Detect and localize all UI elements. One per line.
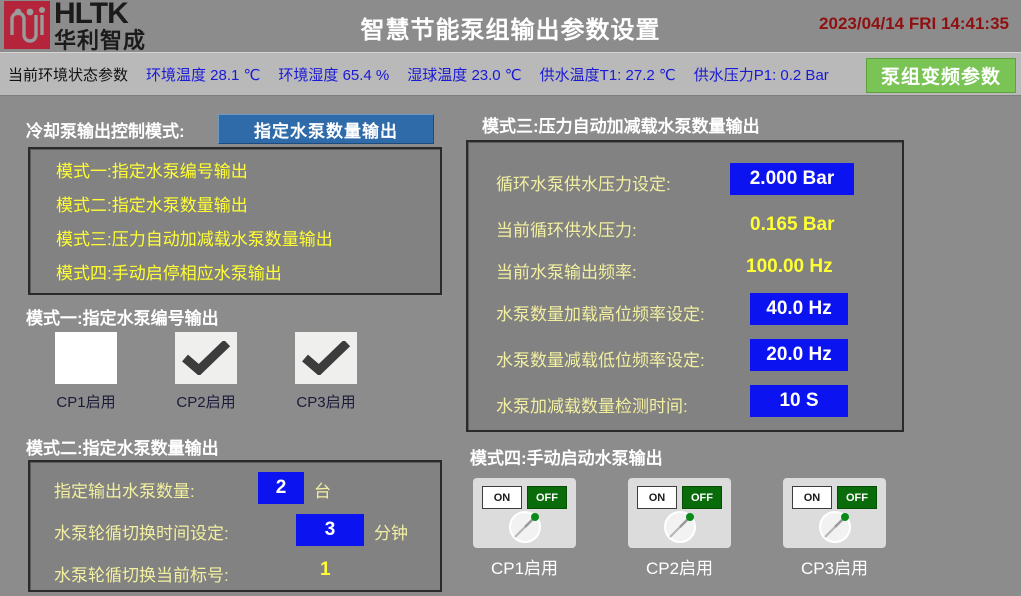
- mode2-panel: 指定输出水泵数量: 2 台 水泵轮循切换时间设定: 3 分钟 水泵轮循切换当前标…: [28, 460, 442, 592]
- status-supply-temperature-t1: 供水温度T1: 27.2 ℃: [540, 64, 676, 85]
- pump-cp1-switch[interactable]: ON OFF: [473, 478, 576, 548]
- status-bar-label: 当前环境状态参数: [8, 64, 128, 85]
- mode3-row-detect-time: 水泵加减载数量检测时间: 10 S: [468, 380, 902, 426]
- checkmark-icon: [181, 341, 231, 375]
- mode2-rotation-time-value[interactable]: 3: [296, 514, 364, 546]
- pump-cp2-checkbox[interactable]: [175, 332, 237, 384]
- mode1-pump-checkboxes: CP1启用 CP2启用 CP3启用: [52, 332, 360, 412]
- cooling-pump-mode-select[interactable]: 指定水泵数量输出: [218, 114, 434, 144]
- pump-cp1-checkbox-cell[interactable]: CP1启用: [52, 332, 120, 412]
- mode3-unload-low-freq-label: 水泵数量减载低位频率设定:: [496, 346, 705, 371]
- pump-cp3-switch-cell[interactable]: ON OFF CP3启用: [783, 478, 886, 579]
- mode1-heading: 模式一:指定水泵编号输出: [26, 304, 219, 329]
- mode2-row-current-index: 水泵轮循切换当前标号: 1: [30, 552, 440, 592]
- mode-option-3[interactable]: 模式三:压力自动加减载水泵数量输出: [56, 225, 333, 250]
- mode2-row-rotation-time: 水泵轮循切换时间设定: 3 分钟: [30, 510, 440, 550]
- pump-cp3-on-button[interactable]: ON: [792, 486, 832, 509]
- mode3-current-pressure-label: 当前循环供水压力:: [496, 216, 637, 241]
- mode2-pump-count-unit: 台: [314, 477, 331, 502]
- pump-cp3-checkbox-cell[interactable]: CP3启用: [292, 332, 360, 412]
- mode3-heading: 模式三:压力自动加减载水泵数量输出: [482, 112, 760, 137]
- datetime-display: 2023/04/14 FRI 14:41:35: [819, 14, 1009, 34]
- mode-option-2[interactable]: 模式二:指定水泵数量输出: [56, 191, 248, 216]
- mode3-current-frequency-label: 当前水泵输出频率:: [496, 258, 637, 283]
- mode2-heading: 模式二:指定水泵数量输出: [26, 434, 219, 459]
- pump-cp1-off-button[interactable]: OFF: [527, 486, 567, 509]
- status-ambient-temperature: 环境温度 28.1 ℃: [146, 64, 260, 85]
- pump-cp3-checkbox[interactable]: [295, 332, 357, 384]
- pump-cp3-off-button[interactable]: OFF: [837, 486, 877, 509]
- mode2-pump-count-value[interactable]: 2: [258, 472, 304, 504]
- mode-options-panel: 模式一:指定水泵编号输出 模式二:指定水泵数量输出 模式三:压力自动加减载水泵数…: [28, 147, 442, 295]
- mode4-heading: 模式四:手动启动水泵输出: [470, 444, 663, 469]
- mode3-row-unload-low-freq: 水泵数量减载低位频率设定: 20.0 Hz: [468, 334, 902, 380]
- pump-cp2-checkbox-cell[interactable]: CP2启用: [172, 332, 240, 412]
- mode2-rotation-time-label: 水泵轮循切换时间设定:: [54, 519, 229, 544]
- cooling-pump-mode-label: 冷却泵输出控制模式:: [26, 117, 185, 142]
- pump-cp2-switch-label: CP2启用: [646, 554, 713, 579]
- mode3-load-high-freq-label: 水泵数量加载高位频率设定:: [496, 300, 705, 325]
- mode-option-1[interactable]: 模式一:指定水泵编号输出: [56, 157, 248, 182]
- mode3-pressure-setpoint-value[interactable]: 2.000 Bar: [730, 163, 854, 195]
- status-supply-pressure-p1: 供水压力P1: 0.2 Bar: [694, 64, 829, 85]
- status-items: 当前环境状态参数 环境温度 28.1 ℃ 环境湿度 65.4 % 湿球温度 23…: [8, 53, 829, 95]
- pump-cp3-knob-icon[interactable]: [817, 509, 853, 545]
- mode3-pressure-setpoint-label: 循环水泵供水压力设定:: [496, 170, 671, 195]
- status-ambient-humidity: 环境湿度 65.4 %: [278, 64, 389, 85]
- pump-cp1-label: CP1启用: [56, 391, 115, 412]
- checkmark-icon: [301, 341, 351, 375]
- pump-cp2-switch-cell[interactable]: ON OFF CP2启用: [628, 478, 731, 579]
- mode2-current-index-label: 水泵轮循切换当前标号:: [54, 561, 229, 586]
- mode-option-4[interactable]: 模式四:手动启停相应水泵输出: [56, 259, 282, 284]
- pump-cp2-label: CP2启用: [176, 391, 235, 412]
- mode3-unload-low-freq-value[interactable]: 20.0 Hz: [750, 339, 848, 371]
- mode3-row-current-frequency: 当前水泵输出频率: 100.00 Hz: [468, 246, 902, 292]
- mode3-panel: 循环水泵供水压力设定: 2.000 Bar 当前循环供水压力: 0.165 Ba…: [466, 140, 904, 432]
- pump-cp2-knob-icon[interactable]: [662, 509, 698, 545]
- pump-cp1-on-button[interactable]: ON: [482, 486, 522, 509]
- status-wetbulb-temperature: 湿球温度 23.0 ℃: [407, 64, 521, 85]
- mode2-current-index-value: 1: [320, 559, 331, 581]
- mode3-detect-time-value[interactable]: 10 S: [750, 385, 848, 417]
- mode3-row-current-pressure: 当前循环供水压力: 0.165 Bar: [468, 204, 902, 250]
- pump-cp1-checkbox[interactable]: [55, 332, 117, 384]
- mode2-row-pump-count: 指定输出水泵数量: 2 台: [30, 468, 440, 508]
- mode3-load-high-freq-value[interactable]: 40.0 Hz: [750, 293, 848, 325]
- pump-cp3-switch[interactable]: ON OFF: [783, 478, 886, 548]
- mode3-current-pressure-value: 0.165 Bar: [750, 214, 835, 236]
- pump-cp1-switch-label: CP1启用: [491, 554, 558, 579]
- mode3-row-load-high-freq: 水泵数量加载高位频率设定: 40.0 Hz: [468, 288, 902, 334]
- mode3-detect-time-label: 水泵加减载数量检测时间:: [496, 392, 688, 417]
- pump-cp3-label: CP3启用: [296, 391, 355, 412]
- pump-vfd-parameters-button[interactable]: 泵组变频参数: [866, 58, 1016, 93]
- mode2-rotation-time-unit: 分钟: [374, 519, 408, 544]
- pump-cp2-switch[interactable]: ON OFF: [628, 478, 731, 548]
- mode2-pump-count-label: 指定输出水泵数量:: [54, 477, 195, 502]
- pump-cp2-on-button[interactable]: ON: [637, 486, 677, 509]
- pump-cp1-knob-icon[interactable]: [507, 509, 543, 545]
- pump-cp2-off-button[interactable]: OFF: [682, 486, 722, 509]
- mode3-current-frequency-value: 100.00 Hz: [746, 256, 833, 278]
- mode3-row-pressure-setpoint: 循环水泵供水压力设定: 2.000 Bar: [468, 158, 902, 204]
- pump-cp3-switch-label: CP3启用: [801, 554, 868, 579]
- mode4-switch-group: ON OFF CP1启用 ON OFF: [473, 478, 886, 579]
- app-header: HLTK 华利智成 智慧节能泵组输出参数设置 2023/04/14 FRI 14…: [0, 0, 1021, 52]
- pump-cp1-switch-cell[interactable]: ON OFF CP1启用: [473, 478, 576, 579]
